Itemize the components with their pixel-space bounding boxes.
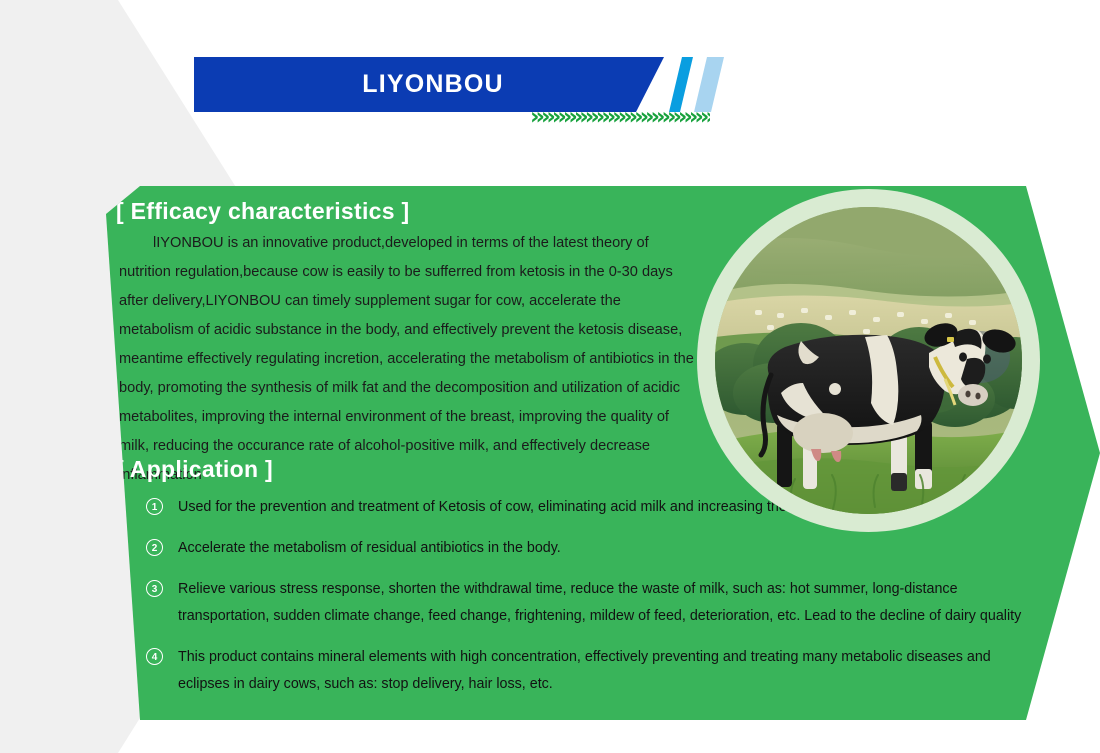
list-item-text: Relieve various stress response, shorten… [178,581,1021,624]
chevron-decoration-icon: ›››››››››››››››››››››››››››››››››››› [530,105,710,129]
list-item: 4 This product contains mineral elements… [146,644,1026,698]
cow-pasture-illustration [715,207,1022,514]
list-item-text: Accelerate the metabolism of residual an… [178,540,561,556]
list-marker-2: 2 [146,539,163,556]
list-marker-3: 3 [146,580,163,597]
list-item: 2 Accelerate the metabolism of residual … [146,535,1026,562]
page-root: LIYONBOU ›››››››››››››››››››››››››››››››… [0,0,1100,753]
list-marker-1: 1 [146,498,163,515]
list-marker-4: 4 [146,648,163,665]
product-photo [697,189,1040,532]
list-item-text: This product contains mineral elements w… [178,649,991,692]
photo-circle [715,207,1022,514]
efficacy-heading: [ Efficacy characteristics ] [116,198,410,225]
application-heading: [ Application ] [116,456,273,483]
efficacy-paragraph: lIYONBOU is an innovative product,develo… [119,229,699,490]
header-banner: LIYONBOU [194,57,664,112]
banner-parallelogram: LIYONBOU [194,57,664,112]
brand-title: LIYONBOU [362,70,504,99]
list-item: 3 Relieve various stress response, short… [146,576,1026,630]
